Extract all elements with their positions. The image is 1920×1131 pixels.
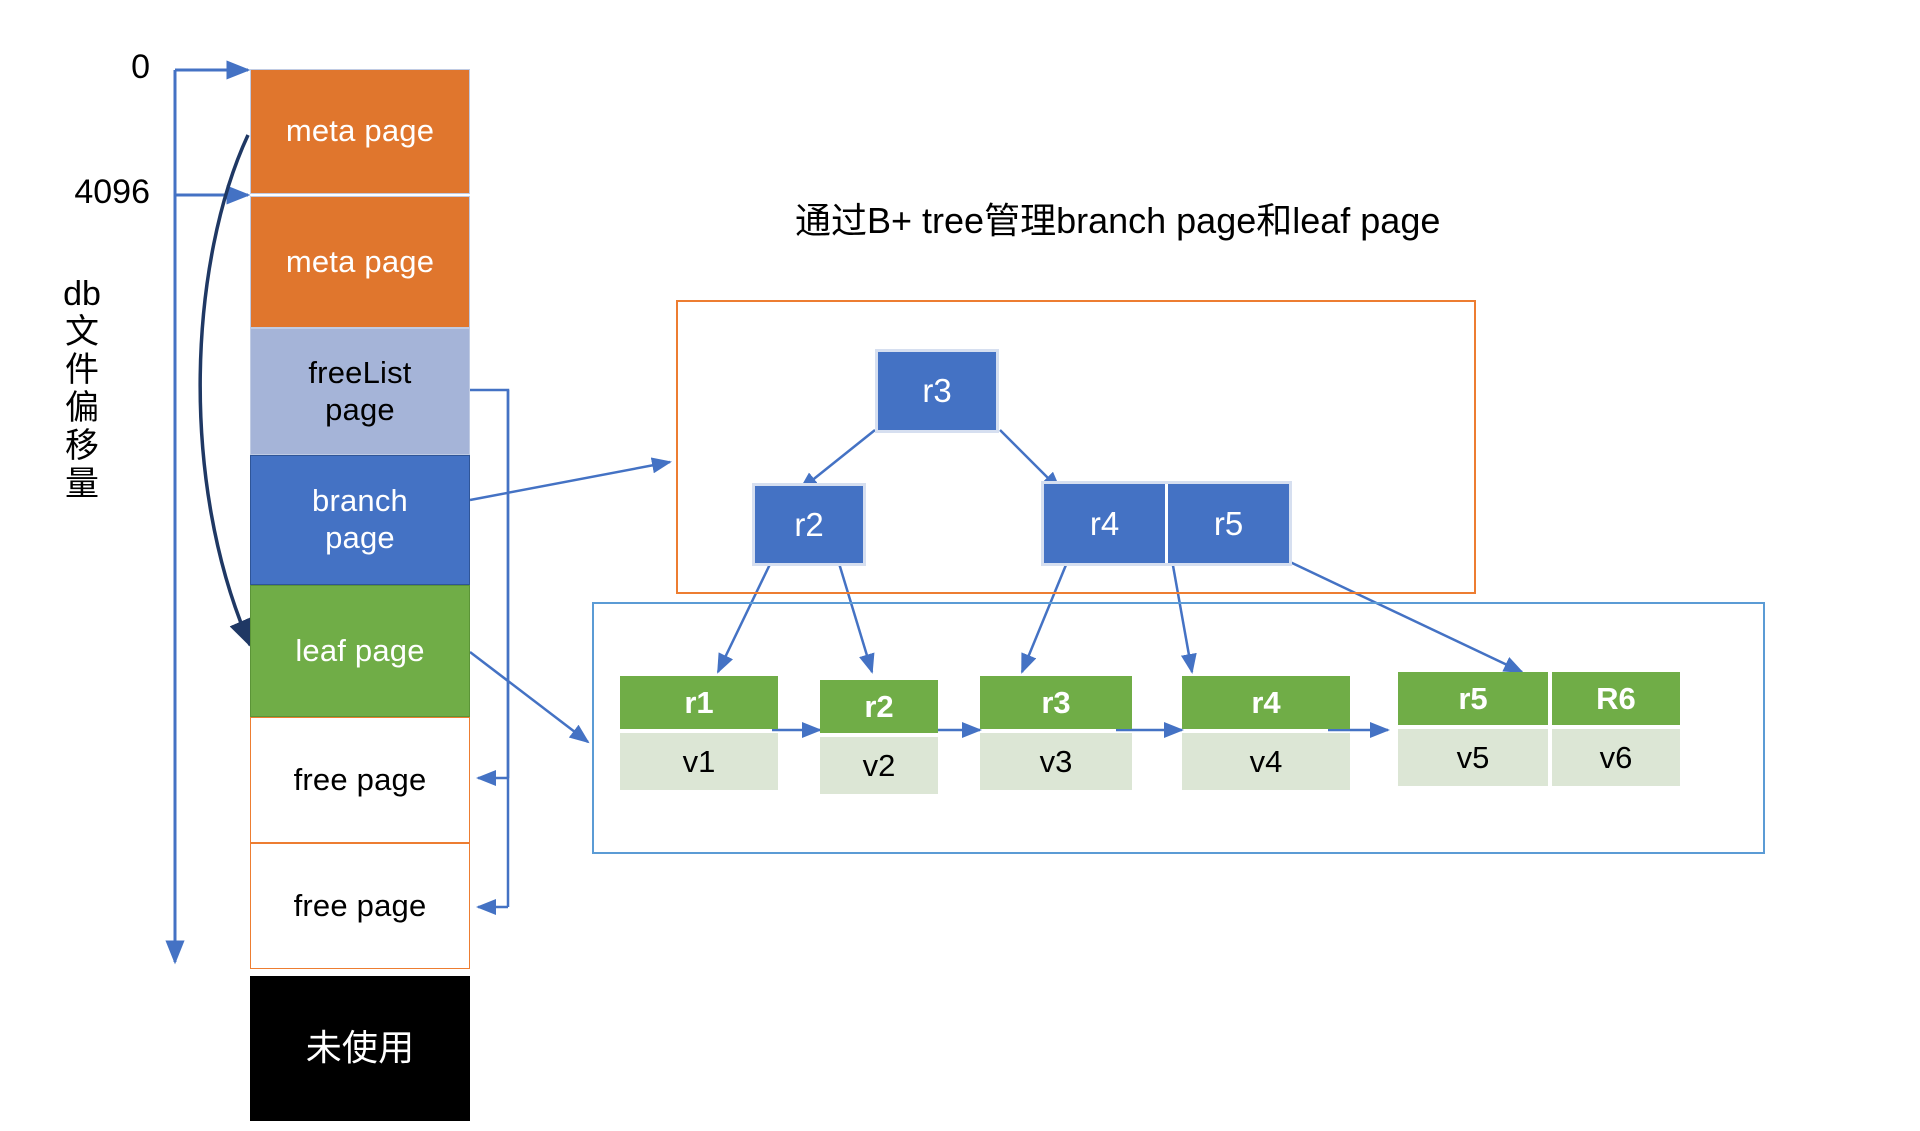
leaf-node-5-keys: r5 R6 bbox=[1398, 672, 1680, 725]
diagram-canvas: 0 4096 db文件偏移量 meta page meta page freeL… bbox=[0, 0, 1920, 1131]
leaf-value-cell: v1 bbox=[620, 733, 778, 790]
leaf-key-cell: r4 bbox=[1182, 676, 1350, 729]
branch-page-to-branch-frame bbox=[470, 462, 670, 500]
leaf-key-cell: R6 bbox=[1548, 672, 1680, 725]
page-title: 通过B+ tree管理branch page和leaf page bbox=[795, 192, 1440, 244]
leaf-value-cell: v5 bbox=[1398, 729, 1548, 786]
leaf-node-5-values: v5 v6 bbox=[1398, 725, 1680, 786]
offset-label-4096: 4096 bbox=[60, 173, 150, 212]
page-block-free-2: free page bbox=[250, 843, 470, 969]
page-block-meta-1: meta page bbox=[250, 69, 470, 194]
leaf-node-2-keys: r2 bbox=[820, 680, 938, 733]
page-block-leaf: leaf page bbox=[250, 585, 470, 717]
leaf-node-4: r4 v4 bbox=[1182, 676, 1350, 790]
meta-to-leaf-arrow bbox=[200, 135, 250, 645]
page-block-meta-2: meta page bbox=[250, 196, 470, 328]
branch-node-root: r3 bbox=[878, 352, 996, 430]
branch-node-right: r4 r5 bbox=[1044, 484, 1289, 563]
leaf-node-1-keys: r1 bbox=[620, 676, 778, 729]
leaf-page-to-leaf-frame bbox=[470, 652, 588, 742]
branch-node-right-key-2: r5 bbox=[1165, 484, 1289, 563]
offset-axis bbox=[175, 70, 248, 962]
leaf-node-5: r5 R6 v5 v6 bbox=[1398, 672, 1680, 786]
page-block-unused: 未使用 bbox=[250, 976, 470, 1121]
offset-label-0: 0 bbox=[60, 48, 150, 87]
leaf-value-cell: v2 bbox=[820, 737, 938, 794]
leaf-value-cell: v4 bbox=[1182, 733, 1350, 790]
leaf-node-4-values: v4 bbox=[1182, 729, 1350, 790]
leaf-value-cell: v3 bbox=[980, 733, 1132, 790]
page-block-free-1: free page bbox=[250, 717, 470, 843]
branch-node-right-key-1: r4 bbox=[1044, 484, 1165, 563]
leaf-node-3: r3 v3 bbox=[980, 676, 1132, 790]
leaf-key-cell: r3 bbox=[980, 676, 1132, 729]
leaf-node-1-values: v1 bbox=[620, 729, 778, 790]
leaf-node-3-keys: r3 bbox=[980, 676, 1132, 729]
leaf-node-2-values: v2 bbox=[820, 733, 938, 794]
leaf-key-cell: r1 bbox=[620, 676, 778, 729]
db-file-offset-label: db文件偏移量 bbox=[56, 275, 108, 503]
leaf-key-cell: r5 bbox=[1398, 672, 1548, 725]
freelist-to-free-pages bbox=[470, 390, 508, 907]
leaf-node-1: r1 v1 bbox=[620, 676, 778, 790]
page-block-branch: branchpage bbox=[250, 455, 470, 585]
leaf-node-3-values: v3 bbox=[980, 729, 1132, 790]
leaf-key-cell: r2 bbox=[820, 680, 938, 733]
leaf-node-4-keys: r4 bbox=[1182, 676, 1350, 729]
branch-node-left: r2 bbox=[755, 486, 863, 563]
leaf-value-cell: v6 bbox=[1548, 729, 1680, 786]
leaf-node-2: r2 v2 bbox=[820, 680, 938, 794]
page-block-freelist: freeListpage bbox=[250, 328, 470, 455]
